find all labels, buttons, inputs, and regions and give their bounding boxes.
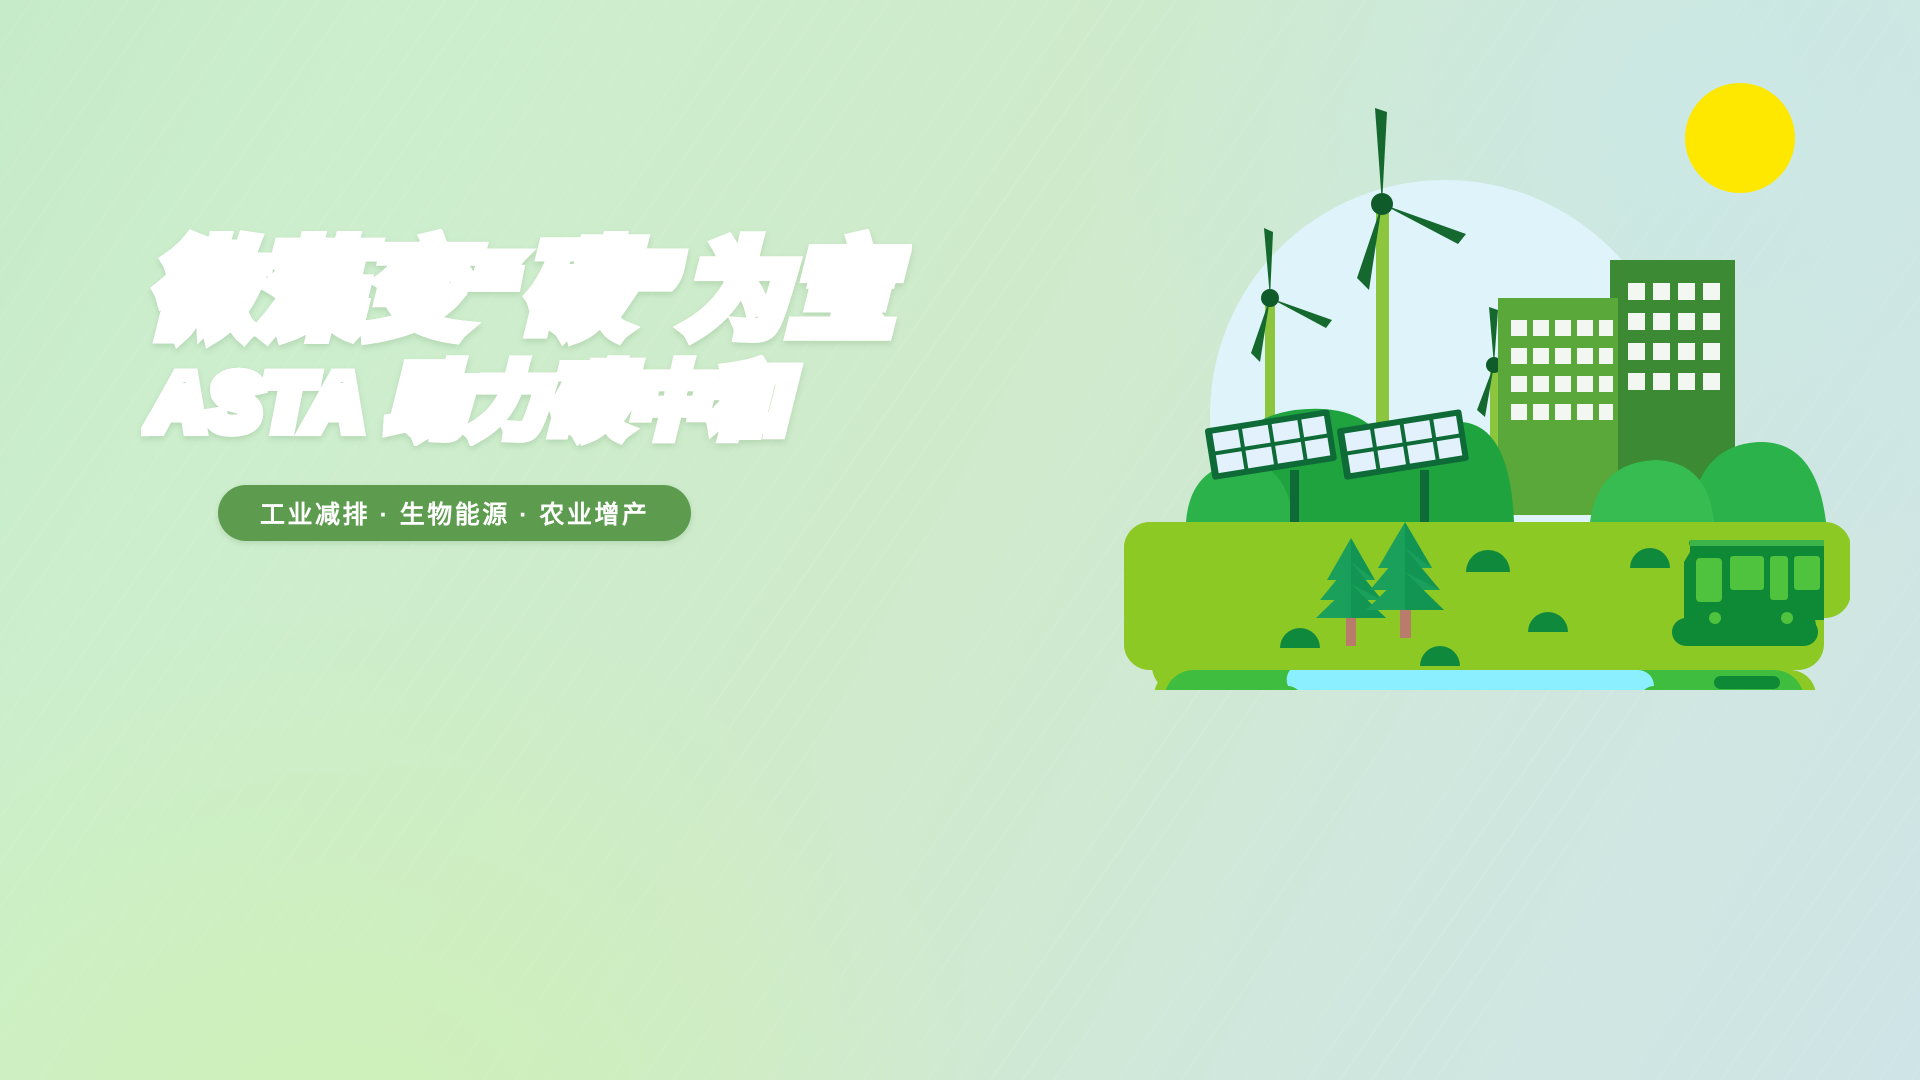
bus-icon (1672, 540, 1824, 646)
background-glow-bottom-left (0, 520, 1100, 1080)
page-subtitle: ASTA 助力碳中和 (150, 362, 910, 443)
green-city-illustration (1090, 70, 1850, 690)
lower-ground (1164, 670, 1816, 690)
building-short (1498, 298, 1618, 515)
page-title: 微藻变“碳”为宝 (150, 238, 910, 346)
lake-water (1287, 670, 1654, 690)
keywords-badge: 工业减排 · 生物能源 · 农业增产 (218, 485, 691, 541)
copy-block: 微藻变“碳”为宝 ASTA 助力碳中和 工业减排 · 生物能源 · 农业增产 (150, 238, 910, 541)
sun-icon (1685, 83, 1795, 193)
eco-banner: 微藻变“碳”为宝 ASTA 助力碳中和 工业减排 · 生物能源 · 农业增产 (0, 0, 1920, 1080)
